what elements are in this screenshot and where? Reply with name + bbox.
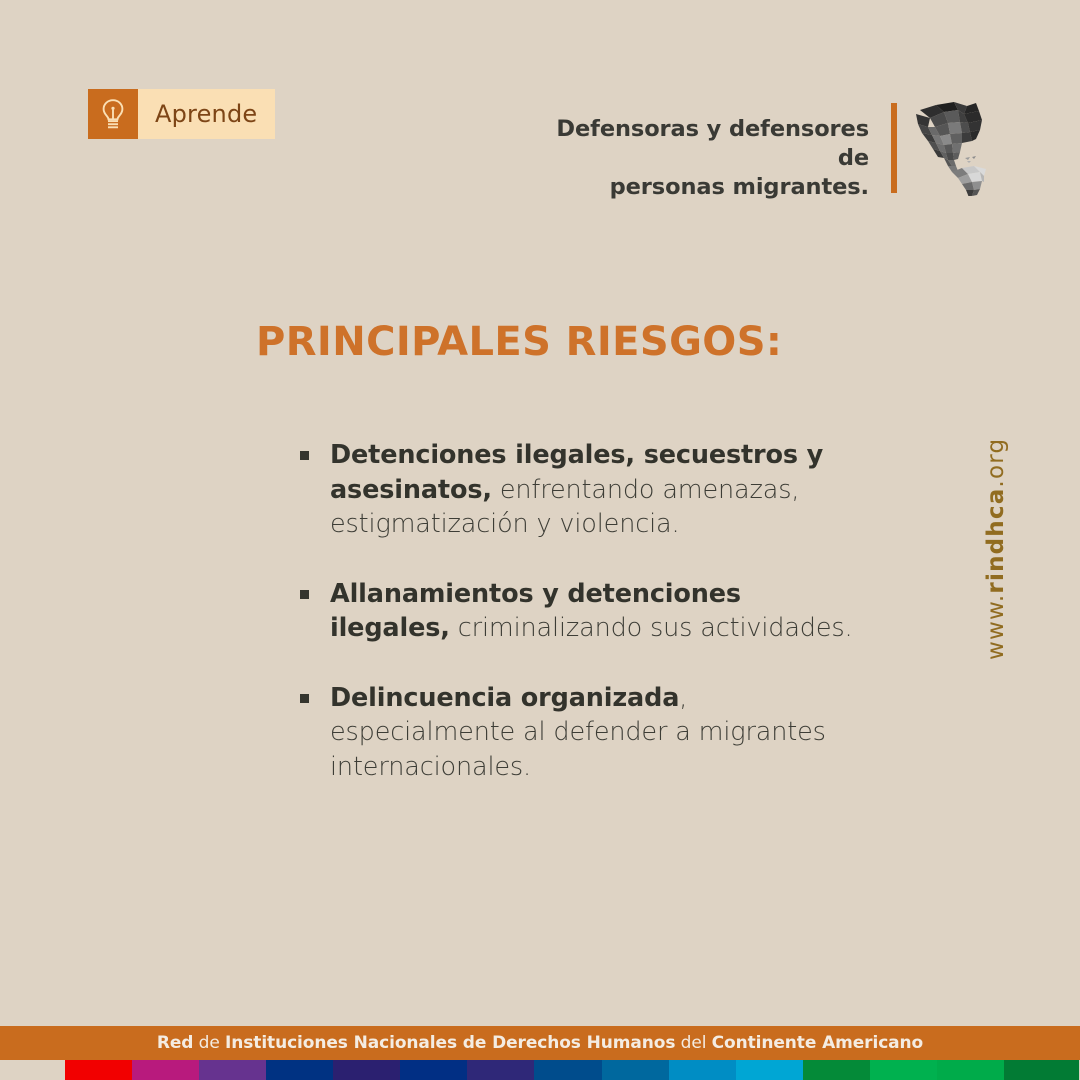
color-strip-segment-0 bbox=[0, 1060, 65, 1080]
footer-part-3: Instituciones Nacionales de Derechos Hum… bbox=[225, 1033, 675, 1053]
header-divider bbox=[891, 103, 897, 193]
poster-canvas: Aprende Defensoras y defensores de perso… bbox=[0, 0, 1080, 1080]
risk-text: Delincuencia organizada, especialmente a… bbox=[330, 681, 860, 785]
header-title-line-1: Defensoras y defensores de bbox=[519, 115, 869, 173]
color-strip-segment-12 bbox=[803, 1060, 870, 1080]
color-strip-segment-4 bbox=[266, 1060, 333, 1080]
footer-part-2: de bbox=[193, 1033, 225, 1053]
header-branding: Defensoras y defensores de personas migr… bbox=[519, 96, 998, 201]
americas-map-icon bbox=[910, 96, 998, 196]
page-title: PRINCIPALES RIESGOS: bbox=[256, 322, 782, 362]
footer-bar: Red de Instituciones Nacionales de Derec… bbox=[0, 1026, 1080, 1060]
website-url[interactable]: www.rindhca.org bbox=[985, 430, 1008, 660]
footer-organization-name: Red de Instituciones Nacionales de Derec… bbox=[157, 1035, 923, 1052]
color-strip bbox=[0, 1060, 1080, 1080]
color-strip-segment-6 bbox=[400, 1060, 467, 1080]
color-strip-segment-15 bbox=[1004, 1060, 1079, 1080]
header-title-line-2: personas migrantes. bbox=[519, 173, 869, 202]
footer-part-1: Red bbox=[157, 1033, 194, 1053]
list-item: Detenciones ilegales, secuestros y asesi… bbox=[300, 438, 860, 542]
header-title: Defensoras y defensores de personas migr… bbox=[519, 96, 869, 201]
risk-list: Detenciones ilegales, secuestros y asesi… bbox=[300, 438, 860, 784]
aprende-badge[interactable]: Aprende bbox=[88, 89, 275, 139]
color-strip-segment-10 bbox=[669, 1060, 736, 1080]
color-strip-segment-5 bbox=[333, 1060, 400, 1080]
square-bullet bbox=[300, 590, 309, 599]
square-bullet bbox=[300, 451, 309, 460]
list-item: Allanamientos y detenciones ilegales, cr… bbox=[300, 577, 860, 646]
risk-text: Allanamientos y detenciones ilegales, cr… bbox=[330, 577, 860, 646]
risk-rest: criminalizando sus actividades. bbox=[450, 613, 853, 643]
square-bullet bbox=[300, 694, 309, 703]
lightbulb-icon bbox=[88, 89, 138, 139]
color-strip-segment-8 bbox=[534, 1060, 602, 1080]
color-strip-segment-13 bbox=[870, 1060, 937, 1080]
url-name: rindhca bbox=[983, 488, 1009, 594]
aprende-label-container: Aprende bbox=[138, 89, 275, 139]
aprende-label: Aprende bbox=[155, 102, 257, 126]
color-strip-segment-1 bbox=[65, 1060, 132, 1080]
color-strip-segment-14 bbox=[937, 1060, 1004, 1080]
url-suffix: .org bbox=[983, 438, 1009, 488]
footer-part-4: del bbox=[675, 1033, 711, 1053]
color-strip-segment-7 bbox=[467, 1060, 534, 1080]
risk-lead: Delincuencia organizada bbox=[330, 683, 679, 713]
color-strip-segment-9 bbox=[602, 1060, 669, 1080]
footer-part-5: Continente Americano bbox=[712, 1033, 923, 1053]
color-strip-segment-2 bbox=[132, 1060, 199, 1080]
url-prefix: www. bbox=[983, 594, 1009, 660]
list-item: Delincuencia organizada, especialmente a… bbox=[300, 681, 860, 785]
risk-text: Detenciones ilegales, secuestros y asesi… bbox=[330, 438, 860, 542]
color-strip-segment-3 bbox=[199, 1060, 266, 1080]
color-strip-segment-11 bbox=[736, 1060, 803, 1080]
